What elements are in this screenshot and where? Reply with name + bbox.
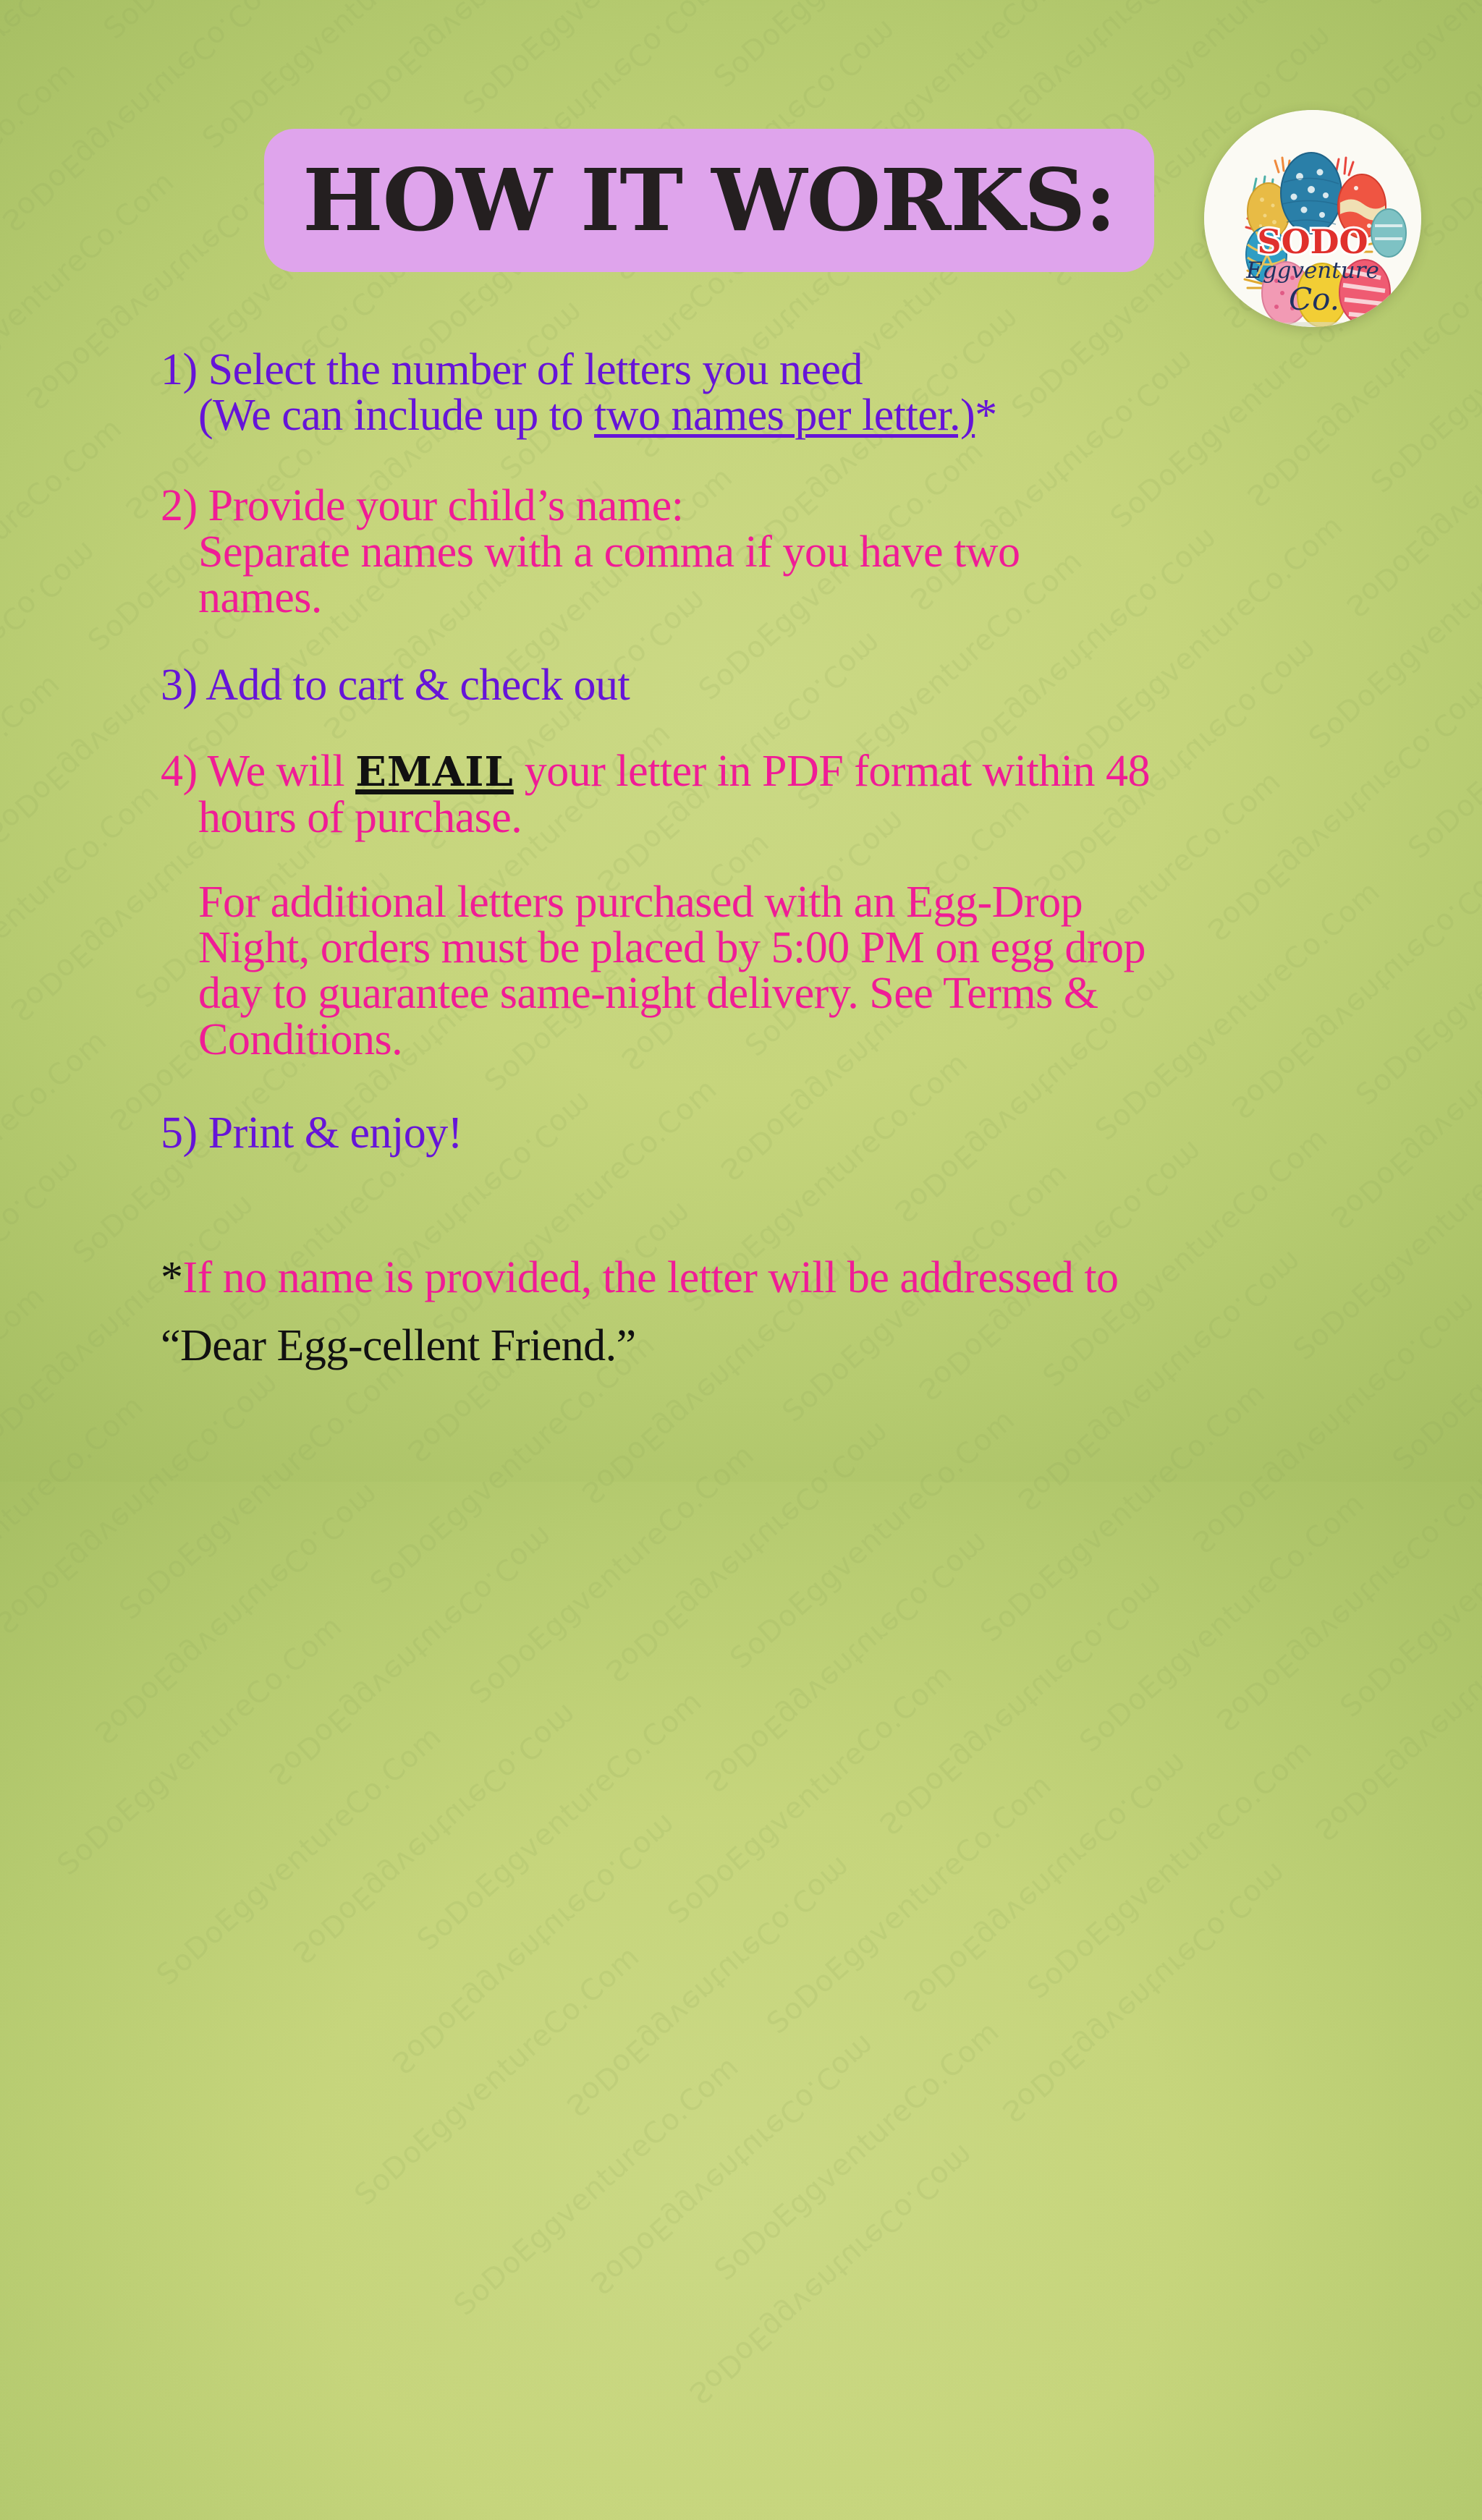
step-2-number: 2)	[161, 481, 198, 530]
step-4-post: your letter in PDF format within 48	[514, 747, 1150, 796]
easter-eggs-logo-icon: SODO Eggventure Co.	[1204, 110, 1421, 327]
extra-line4: Conditions.	[198, 1017, 1373, 1063]
footnote-line1: If no name is provided, the letter will …	[183, 1253, 1119, 1302]
step-1-line2-underlined: two names per letter.)	[594, 391, 975, 440]
footnote: *If no name is provided, the letter will…	[161, 1250, 1373, 1374]
step-3-number: 3)	[161, 661, 198, 710]
step-3-line1: Add to cart & check out	[206, 661, 630, 710]
footnote-asterisk: *	[161, 1253, 183, 1302]
logo-brand-mid: Eggventure	[1245, 258, 1379, 284]
instructions-list: 1) Select the number of letters you need…	[0, 347, 1482, 1374]
logo-brand-top: SODO	[1257, 222, 1368, 261]
step-1-line2-plain: (We can include up to	[198, 391, 594, 440]
step-1-line2-tail: *	[975, 391, 997, 440]
footnote-line2: “Dear Egg-cellent Friend.”	[161, 1318, 1373, 1375]
step-2: 2) Provide your child’s name: Separate n…	[161, 483, 1373, 621]
extra-line3: day to guarantee same-night delivery. Se…	[198, 971, 1373, 1017]
page-title: HOW IT WORKS:	[302, 158, 1116, 243]
logo-brand-bottom: Co.	[1289, 281, 1339, 317]
title-banner: HOW IT WORKS:	[264, 129, 1154, 272]
extra-line1: For additional letters purchased with an…	[198, 880, 1373, 925]
step-1-line1: Select the number of letters you need	[208, 345, 863, 394]
step-5-number: 5)	[161, 1108, 198, 1158]
step-5: 5) Print & enjoy!	[161, 1111, 1373, 1156]
step-1: 1) Select the number of letters you need…	[161, 347, 1373, 438]
step-2-line1: Provide your child’s name:	[208, 481, 684, 530]
step-2-line3: names.	[161, 575, 1373, 621]
step-4-emphasis-email: EMAIL	[355, 748, 514, 796]
brand-logo-badge: SODO Eggventure Co.	[1204, 110, 1421, 327]
extra-line2: Night, orders must be placed by 5:00 PM …	[198, 925, 1373, 971]
step-5-line1: Print & enjoy!	[208, 1108, 462, 1158]
step-4-number: 4)	[161, 747, 198, 796]
step-1-number: 1)	[161, 345, 198, 394]
step-4-line2: hours of purchase.	[161, 795, 1373, 841]
step-3: 3) Add to cart & check out	[161, 663, 1373, 708]
step-4-pre: We will	[208, 747, 356, 796]
step-4: 4) We will EMAIL your letter in PDF form…	[161, 749, 1373, 840]
step-2-line2: Separate names with a comma if you have …	[161, 530, 1373, 575]
additional-letters-note: For additional letters purchased with an…	[161, 880, 1373, 1063]
